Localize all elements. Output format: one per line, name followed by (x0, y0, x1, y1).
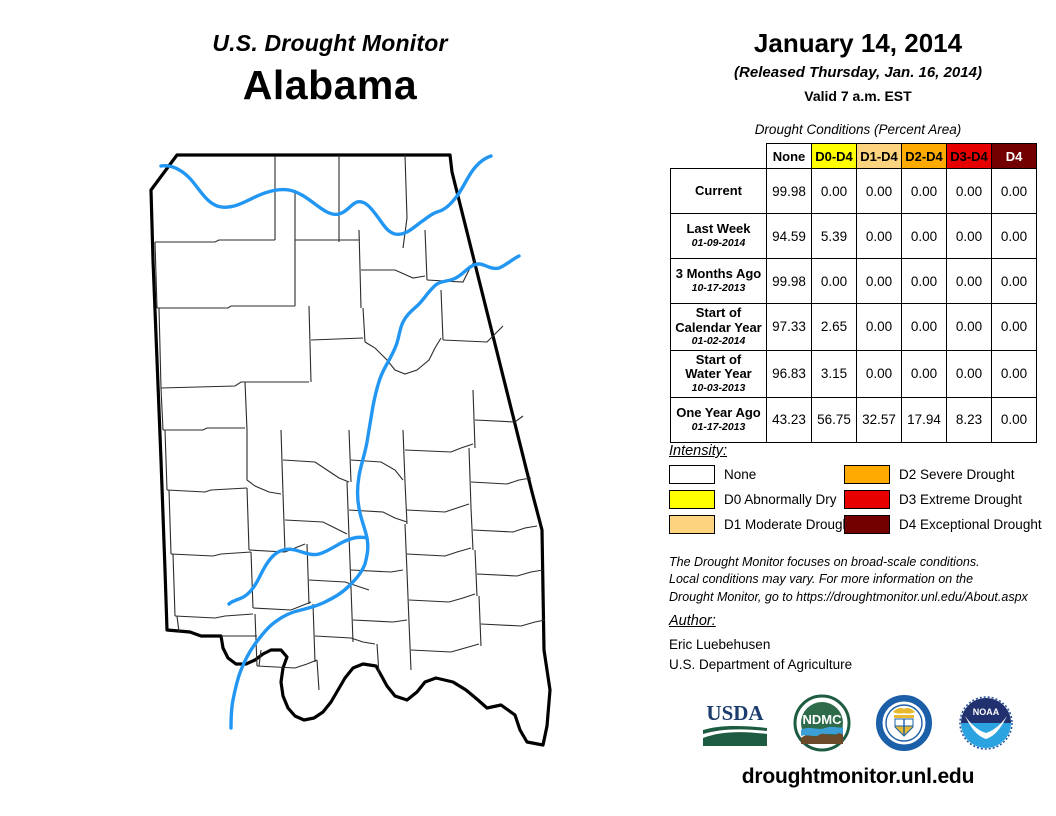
table-cell-value: 94.59 (767, 214, 812, 259)
table-cell-value: 3.15 (812, 350, 857, 397)
table-row: Start ofWater Year10-03-201396.833.150.0… (671, 350, 1037, 397)
table-row-date: 10-17-2013 (673, 283, 764, 295)
legend-item: None (669, 465, 844, 484)
table-cell-value: 0.00 (992, 304, 1037, 351)
table-cell-value: 0.00 (902, 214, 947, 259)
table-cell-value: 2.65 (812, 304, 857, 351)
table-cell-value: 0.00 (857, 169, 902, 214)
legend-item: D3 Extreme Drought (844, 490, 1055, 509)
table-col-header-d2-d4: D2-D4 (902, 144, 947, 169)
drought-monitor-page: U.S. Drought Monitor Alabama (0, 0, 1056, 816)
table-cell-value: 0.00 (992, 169, 1037, 214)
map-panel: U.S. Drought Monitor Alabama (0, 0, 660, 816)
table-row-label: Current (671, 169, 767, 214)
legend-swatch (669, 490, 715, 509)
legend-label: D3 Extreme Drought (899, 492, 1022, 507)
released-date: (Released Thursday, Jan. 16, 2014) (660, 64, 1056, 81)
table-row-date: 10-03-2013 (673, 383, 764, 395)
drought-conditions-table: NoneD0-D4D1-D4D2-D4D3-D4D4 Current99.980… (670, 143, 1037, 443)
noaa-logo[interactable]: NOAA (957, 694, 1015, 757)
table-row: 3 Months Ago10-17-201399.980.000.000.000… (671, 259, 1037, 304)
legend-item: D2 Severe Drought (844, 465, 1055, 484)
noaa-logo-text: NOAA (973, 707, 1000, 717)
table-row-date: 01-17-2013 (673, 422, 764, 434)
table-cell-value: 0.00 (902, 304, 947, 351)
table-header-row: NoneD0-D4D1-D4D2-D4D3-D4D4 (671, 144, 1037, 169)
legend-label: None (724, 467, 756, 482)
table-row-label: 3 Months Ago10-17-2013 (671, 259, 767, 304)
table-cell-value: 43.23 (767, 397, 812, 442)
legend-label: D0 Abnormally Dry (724, 492, 837, 507)
table-cell-value: 0.00 (857, 350, 902, 397)
table-cell-value: 0.00 (902, 350, 947, 397)
table-cell-value: 17.94 (902, 397, 947, 442)
table-cell-value: 0.00 (992, 397, 1037, 442)
logo-row: USDA NDMC (660, 690, 1056, 760)
table-row-date: 01-02-2014 (673, 336, 764, 348)
usda-logo-text: USDA (706, 701, 764, 725)
table-row-label: Last Week01-09-2014 (671, 214, 767, 259)
usda-logo[interactable]: USDA (701, 698, 769, 753)
legend-swatch (844, 490, 890, 509)
ndmc-logo[interactable]: NDMC (793, 694, 851, 757)
alabama-map[interactable] (95, 130, 595, 780)
legend-label: D4 Exceptional Drought (899, 517, 1042, 532)
table-cell-value: 99.98 (767, 259, 812, 304)
intensity-title: Intensity: (669, 443, 1055, 459)
author-block: Eric Luebehusen U.S. Department of Agric… (669, 635, 1055, 674)
table-cell-value: 0.00 (947, 214, 992, 259)
table-cell-value: 56.75 (812, 397, 857, 442)
state-title: Alabama (0, 62, 660, 109)
table-cell-value: 0.00 (812, 169, 857, 214)
disclaimer-notes: The Drought Monitor focuses on broad-sca… (669, 554, 1055, 606)
table-corner-cell (671, 144, 767, 169)
note-line-3: Drought Monitor, go to https://droughtmo… (669, 589, 1055, 606)
table-row: Start ofCalendar Year01-02-201497.332.65… (671, 304, 1037, 351)
table-row: One Year Ago01-17-201343.2356.7532.5717.… (671, 397, 1037, 442)
table-cell-value: 0.00 (947, 304, 992, 351)
intensity-legend: Intensity: NoneD2 Severe DroughtD0 Abnor… (669, 443, 1055, 534)
map-state-fill (151, 155, 550, 745)
legend-swatch (844, 465, 890, 484)
author-affiliation: U.S. Department of Agriculture (669, 655, 1055, 675)
table-col-header-d3-d4: D3-D4 (947, 144, 992, 169)
table-row-label: Start ofWater Year10-03-2013 (671, 350, 767, 397)
usdc-seal-logo[interactable] (875, 694, 933, 757)
drought-conditions-table-zone: NoneD0-D4D1-D4D2-D4D3-D4D4 Current99.980… (670, 143, 1046, 443)
legend-swatch (669, 515, 715, 534)
table-cell-value: 0.00 (947, 350, 992, 397)
author-name: Eric Luebehusen (669, 635, 1055, 655)
table-cell-value: 0.00 (992, 214, 1037, 259)
table-cell-value: 97.33 (767, 304, 812, 351)
table-cell-value: 5.39 (812, 214, 857, 259)
table-col-header-d4: D4 (992, 144, 1037, 169)
table-cell-value: 99.98 (767, 169, 812, 214)
table-col-header-d0-d4: D0-D4 (812, 144, 857, 169)
valid-time: Valid 7 a.m. EST (660, 88, 1056, 104)
table-row: Last Week01-09-201494.595.390.000.000.00… (671, 214, 1037, 259)
legend-swatch (844, 515, 890, 534)
note-line-1: The Drought Monitor focuses on broad-sca… (669, 554, 1055, 571)
legend-item: D1 Moderate Drought (669, 515, 844, 534)
table-cell-value: 0.00 (902, 169, 947, 214)
table-cell-value: 32.57 (857, 397, 902, 442)
note-line-2: Local conditions may vary. For more info… (669, 571, 1055, 588)
legend-label: D2 Severe Drought (899, 467, 1015, 482)
map-date: January 14, 2014 (660, 28, 1056, 59)
alabama-state-shape (151, 155, 550, 745)
author-heading: Author: (669, 613, 716, 629)
table-cell-value: 0.00 (857, 304, 902, 351)
table-cell-value: 0.00 (947, 259, 992, 304)
table-col-header-none: None (767, 144, 812, 169)
legend-grid: NoneD2 Severe DroughtD0 Abnormally DryD3… (669, 465, 1055, 534)
table-caption: Drought Conditions (Percent Area) (660, 122, 1056, 137)
table-row: Current99.980.000.000.000.000.00 (671, 169, 1037, 214)
legend-item: D4 Exceptional Drought (844, 515, 1055, 534)
table-cell-value: 0.00 (857, 259, 902, 304)
table-row-label: Start ofCalendar Year01-02-2014 (671, 304, 767, 351)
table-cell-value: 0.00 (992, 259, 1037, 304)
legend-item: D0 Abnormally Dry (669, 490, 844, 509)
table-row-label: One Year Ago01-17-2013 (671, 397, 767, 442)
table-row-date: 01-09-2014 (673, 238, 764, 250)
table-cell-value: 0.00 (812, 259, 857, 304)
table-col-header-d1-d4: D1-D4 (857, 144, 902, 169)
table-cell-value: 0.00 (857, 214, 902, 259)
info-panel: January 14, 2014 (Released Thursday, Jan… (660, 0, 1056, 816)
legend-swatch (669, 465, 715, 484)
table-cell-value: 0.00 (902, 259, 947, 304)
legend-label: D1 Moderate Drought (724, 517, 854, 532)
table-cell-value: 96.83 (767, 350, 812, 397)
table-cell-value: 8.23 (947, 397, 992, 442)
table-body: Current99.980.000.000.000.000.00Last Wee… (671, 169, 1037, 443)
table-cell-value: 0.00 (992, 350, 1037, 397)
website-url[interactable]: droughtmonitor.unl.edu (660, 765, 1056, 789)
program-title: U.S. Drought Monitor (0, 30, 660, 57)
ndmc-logo-text: NDMC (803, 712, 843, 727)
table-cell-value: 0.00 (947, 169, 992, 214)
